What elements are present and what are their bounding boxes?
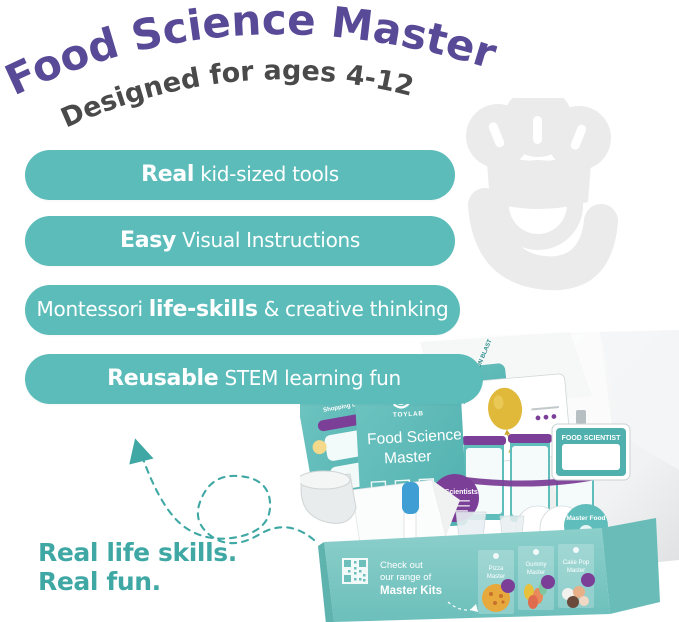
kit-1-line1: Pizza: [489, 566, 504, 572]
feature-2-rest: Visual Instructions: [182, 228, 360, 252]
kit-1-line2: Master: [487, 574, 505, 580]
kit-thumbnail-pizza: Pizza Master: [478, 550, 515, 614]
feature-1-rest: kid-sized tools: [200, 162, 339, 186]
mixing-bowl: [300, 471, 356, 523]
booklet-title-line2: Master: [384, 448, 432, 467]
box-cta-line-3: Master Kits: [380, 585, 442, 597]
feature-pill-easy: Easy Visual Instructions: [25, 216, 455, 266]
feature-3-lead: Montessori: [37, 297, 143, 321]
kit-thumbnail-cakepop: Cake Pop Master: [558, 544, 595, 608]
box-cta-line-1: Check out: [380, 560, 423, 571]
feature-2-bold: Easy: [120, 228, 176, 253]
feature-pill-real: Real kid-sized tools: [25, 150, 455, 200]
tagline: Real life skills. Real fun.: [38, 539, 237, 596]
sticker-label: Master Food: [566, 515, 605, 522]
qr-code-icon: [342, 558, 368, 584]
kit-3-line1: Cake Pop: [563, 560, 590, 566]
title-main-text: Food Science Mastery: [0, 0, 502, 105]
tagline-line-2: Real fun.: [38, 568, 237, 597]
dashed-looping-arrow-icon: [118, 418, 328, 558]
feature-pill-reusable: Reusable STEM learning fun: [25, 354, 483, 404]
kit-2-line2: Master: [527, 570, 545, 576]
page-title: Food Science Mastery Designed for ages 4…: [0, 0, 520, 130]
infographic-root: Food Science Mastery Designed for ages 4…: [0, 0, 679, 622]
box-cta-line-2: our range of: [380, 572, 432, 583]
kit-2-line1: Gummy: [526, 562, 547, 568]
tagline-line-1: Real life skills.: [38, 539, 237, 568]
feature-3-rest: & creative thinking: [264, 297, 449, 321]
feature-pill-montessori: Montessori life-skills & creative thinki…: [25, 285, 460, 335]
feature-3-bold: life-skills: [149, 297, 258, 322]
kit-thumbnail-gummy: Gummy Master: [518, 546, 555, 610]
feature-4-rest: STEM learning fun: [224, 366, 400, 390]
name-badge-label: FOOD SCIENTIST: [562, 435, 621, 442]
feature-4-bold: Reusable: [107, 366, 218, 391]
kit-3-line2: Master: [567, 568, 585, 574]
feature-1-bold: Real: [141, 162, 194, 187]
